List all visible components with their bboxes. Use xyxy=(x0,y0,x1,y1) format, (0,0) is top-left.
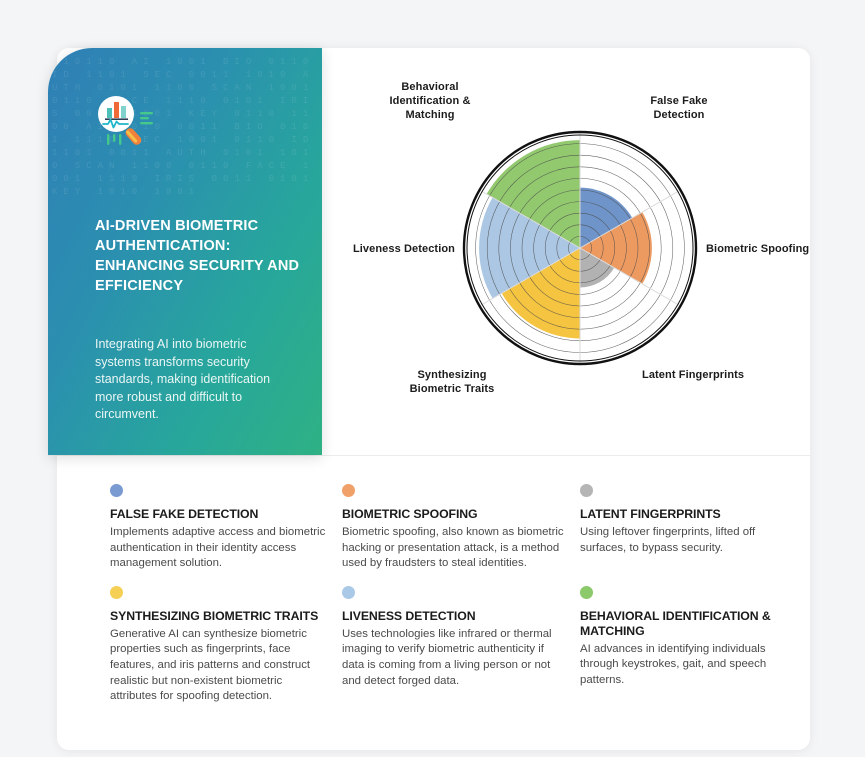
legend-color-dot xyxy=(110,484,123,497)
legend-grid: FALSE FAKE DETECTIONImplements adaptive … xyxy=(110,484,816,705)
legend-color-dot xyxy=(342,586,355,599)
legend-color-dot xyxy=(342,484,355,497)
section-divider xyxy=(48,455,810,456)
legend-color-dot xyxy=(580,484,593,497)
legend-item-title: FALSE FAKE DETECTION xyxy=(110,507,326,522)
legend-item-behavioral-identification-matching[interactable]: BEHAVIORAL IDENTIFICATION & MATCHINGAI a… xyxy=(580,586,816,705)
legend-color-dot xyxy=(580,586,593,599)
axis-label-synthesizing-biometric-traits: SynthesizingBiometric Traits xyxy=(392,368,512,396)
legend-item-title: LATENT FINGERPRINTS xyxy=(580,507,800,522)
legend-item-title: SYNTHESIZING BIOMETRIC TRAITS xyxy=(110,609,326,624)
legend-color-dot xyxy=(110,586,123,599)
legend-item-liveness-detection[interactable]: LIVENESS DETECTIONUses technologies like… xyxy=(342,586,580,705)
hero-title: AI-DRIVEN BIOMETRIC AUTHENTICATION: ENHA… xyxy=(95,216,310,296)
legend-item-false-fake-detection[interactable]: FALSE FAKE DETECTIONImplements adaptive … xyxy=(110,484,342,572)
axis-label-false-fake-detection: False FakeDetection xyxy=(624,94,734,122)
polar-rose-chart: BehavioralIdentification &Matching False… xyxy=(350,52,810,452)
legend-item-description: Generative AI can synthesize biometric p… xyxy=(110,627,326,705)
legend-item-synthesizing-biometric-traits[interactable]: SYNTHESIZING BIOMETRIC TRAITSGenerative … xyxy=(110,586,342,705)
hero-panel: 010110 AI 1001 BIO 0110 ID 1101 SEC 0011… xyxy=(48,48,322,455)
axis-label-behavioral-identification-matching: BehavioralIdentification &Matching xyxy=(370,80,490,122)
legend-item-title: BIOMETRIC SPOOFING xyxy=(342,507,564,522)
legend-item-description: Implements adaptive access and biometric… xyxy=(110,525,326,572)
legend-item-description: Uses technologies like infrared or therm… xyxy=(342,627,564,689)
hero-description: Integrating AI into biometric systems tr… xyxy=(95,336,275,424)
legend-item-biometric-spoofing[interactable]: BIOMETRIC SPOOFINGBiometric spoofing, al… xyxy=(342,484,580,572)
legend-item-description: Biometric spoofing, also known as biomet… xyxy=(342,525,564,572)
legend-item-description: AI advances in identifying individuals t… xyxy=(580,642,800,689)
analytics-magnifier-icon xyxy=(94,94,156,150)
legend-item-description: Using leftover fingerprints, lifted off … xyxy=(580,525,800,556)
legend-item-title: BEHAVIORAL IDENTIFICATION & MATCHING xyxy=(580,609,800,639)
legend-item-title: LIVENESS DETECTION xyxy=(342,609,564,624)
axis-label-latent-fingerprints: Latent Fingerprints xyxy=(642,368,757,382)
legend-item-latent-fingerprints[interactable]: LATENT FINGERPRINTSUsing leftover finger… xyxy=(580,484,816,572)
axis-label-biometric-spoofing: Biometric Spoofing xyxy=(706,242,811,256)
axis-label-liveness-detection: Liveness Detection xyxy=(335,242,455,256)
